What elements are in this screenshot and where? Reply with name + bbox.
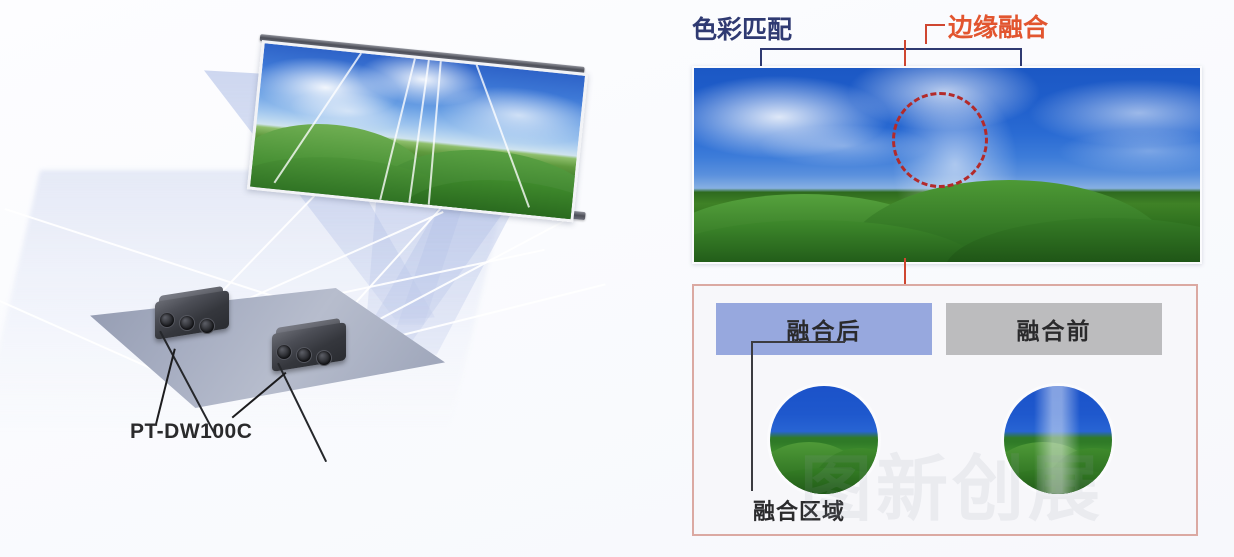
photo-to-panel-connector: [904, 258, 906, 286]
projector-lens: [199, 318, 215, 334]
circle-before-blend: [1004, 386, 1112, 494]
projector-lens: [276, 344, 292, 360]
chip-after-blend: 融合后: [716, 303, 932, 355]
left-diagram: PT-DW100C: [0, 0, 660, 557]
circle-after-blend: [770, 386, 878, 494]
blended-projection-photo: [692, 66, 1202, 264]
chip-before-blend-label: 融合前: [1017, 312, 1092, 346]
blend-region-label: 融合区域: [753, 494, 845, 526]
figure-root: PT-DW100C 色彩匹配 边缘融合: [0, 0, 1234, 557]
projector-right: [272, 328, 346, 366]
blend-region-leader-vertical: [751, 341, 753, 491]
blend-region-highlight-circle: [892, 92, 988, 188]
projector-lens: [179, 315, 195, 331]
edge-blend-elbow-horizontal: [925, 24, 945, 26]
overlap-band: [1034, 386, 1080, 494]
screen-image: [247, 40, 588, 222]
heading-color-match: 色彩匹配: [692, 10, 792, 46]
projector-lens: [316, 350, 332, 366]
chip-before-blend: 融合前: [946, 303, 1162, 355]
blend-region-leader-horizontal: [751, 341, 845, 343]
right-panel: 色彩匹配 边缘融合: [660, 0, 1234, 557]
projection-screen: [258, 28, 590, 258]
projector-left: [155, 296, 229, 334]
projector-lens: [159, 312, 175, 328]
color-match-bracket-horizontal: [760, 48, 1022, 50]
projector-lens: [296, 347, 312, 363]
heading-edge-blend: 边缘融合: [948, 8, 1048, 44]
projector-model-label: PT-DW100C: [130, 420, 252, 444]
edge-blend-elbow-vertical: [925, 24, 927, 44]
compare-panel: 融合后 融合前 融合区域: [692, 284, 1198, 536]
